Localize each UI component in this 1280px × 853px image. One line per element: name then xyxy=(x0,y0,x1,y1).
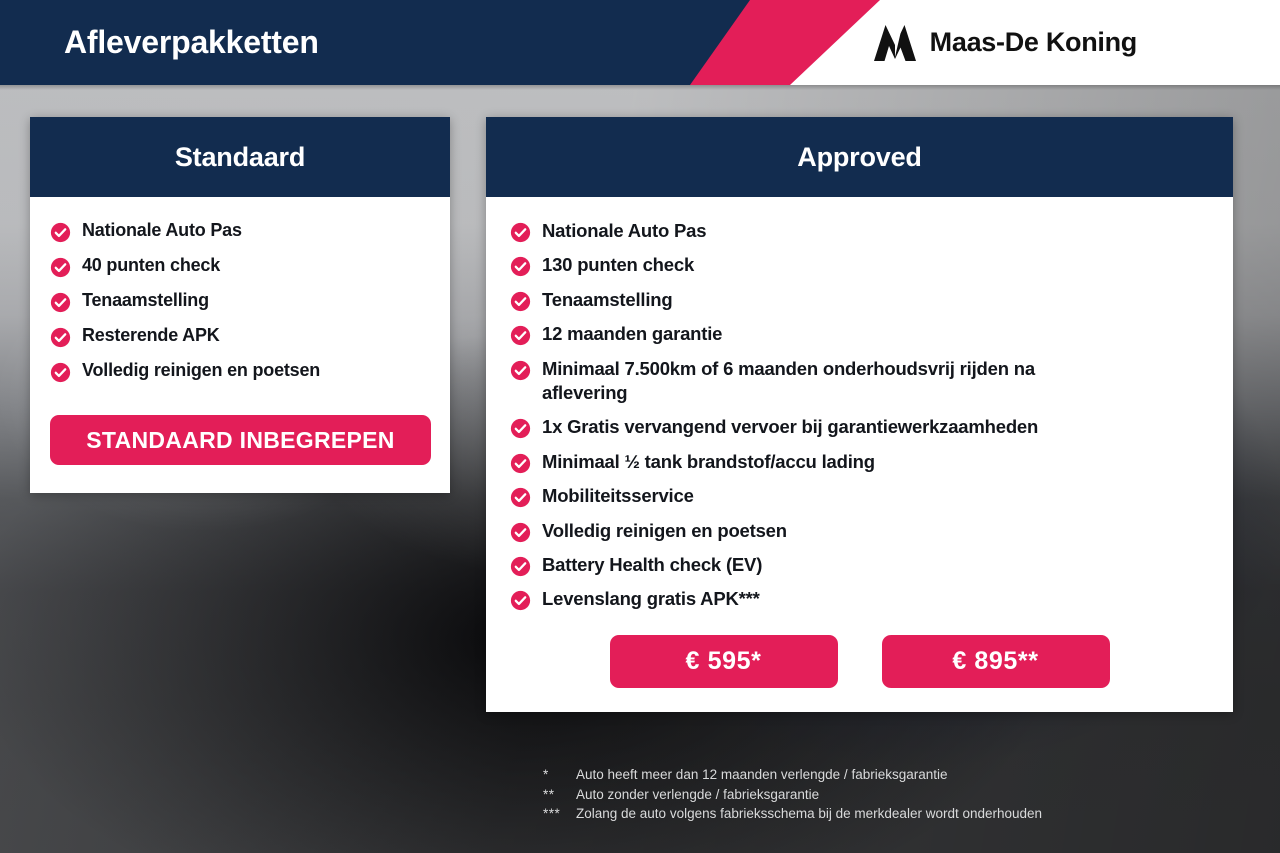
promo-page: Afleverpakketten Maas-De Koning Standaar… xyxy=(0,0,1280,853)
check-circle-icon xyxy=(50,362,71,383)
list-item: Nationale Auto Pas xyxy=(30,219,450,243)
list-item: 40 punten check xyxy=(30,254,450,278)
feature-label: Resterende APK xyxy=(82,324,220,348)
feature-list-standaard: Nationale Auto Pas 40 punten check Tenaa… xyxy=(30,219,450,383)
feature-label: Nationale Auto Pas xyxy=(82,219,242,243)
check-circle-icon xyxy=(510,360,531,381)
card-body-approved: Nationale Auto Pas 130 punten check Tena… xyxy=(486,197,1233,712)
feature-label: Mobiliteitsservice xyxy=(542,484,694,508)
price-button-595[interactable]: € 595* xyxy=(610,635,838,688)
price-button-row: € 595* € 895** xyxy=(486,622,1233,712)
list-item: Minimaal ½ tank brandstof/accu lading xyxy=(486,450,1233,474)
list-item: Resterende APK xyxy=(30,324,450,348)
list-item: Volledig reinigen en poetsen xyxy=(30,359,450,383)
card-header-approved: Approved xyxy=(486,117,1233,197)
check-circle-icon xyxy=(50,292,71,313)
feature-label: Battery Health check (EV) xyxy=(542,553,762,577)
footnote-text: Auto zonder verlengde / fabrieksgarantie xyxy=(576,785,819,805)
check-circle-icon xyxy=(510,487,531,508)
list-item: Tenaamstelling xyxy=(30,289,450,313)
check-circle-icon xyxy=(510,256,531,277)
check-circle-icon xyxy=(50,257,71,278)
check-circle-icon xyxy=(510,590,531,611)
check-circle-icon xyxy=(510,522,531,543)
feature-list-approved: Nationale Auto Pas 130 punten check Tena… xyxy=(486,219,1233,612)
feature-label: Minimaal 7.500km of 6 maanden onderhouds… xyxy=(542,357,1122,406)
check-circle-icon xyxy=(510,418,531,439)
feature-label: Levenslang gratis APK*** xyxy=(542,587,760,611)
feature-label: 40 punten check xyxy=(82,254,220,278)
footnote-double-asterisk: ** Auto zonder verlengde / fabrieksgaran… xyxy=(543,785,1042,805)
check-circle-icon xyxy=(510,222,531,243)
check-circle-icon xyxy=(510,291,531,312)
footnote-triple-asterisk: *** Zolang de auto volgens fabrieksschem… xyxy=(543,804,1042,824)
header-shadow xyxy=(0,85,1280,90)
check-circle-icon xyxy=(510,556,531,577)
footnote-single-asterisk: * Auto heeft meer dan 12 maanden verleng… xyxy=(543,765,1042,785)
package-card-standaard: Standaard Nationale Auto Pas 40 punten c xyxy=(30,117,450,493)
footnote-marker: ** xyxy=(543,785,576,805)
footnote-marker: *** xyxy=(543,804,576,824)
list-item: Minimaal 7.500km of 6 maanden onderhouds… xyxy=(486,357,1233,406)
check-circle-icon xyxy=(50,222,71,243)
list-item: 1x Gratis vervangend vervoer bij garanti… xyxy=(486,415,1233,439)
feature-label: Volledig reinigen en poetsen xyxy=(542,519,787,543)
standaard-included-button[interactable]: STANDAARD INBEGREPEN xyxy=(50,415,431,465)
maas-de-koning-m-mark-icon xyxy=(872,23,918,63)
card-title: Standaard xyxy=(175,142,305,173)
check-circle-icon xyxy=(50,327,71,348)
list-item: Tenaamstelling xyxy=(486,288,1233,312)
price-button-895[interactable]: € 895** xyxy=(882,635,1110,688)
feature-label: 12 maanden garantie xyxy=(542,322,722,346)
brand-logo: Maas-De Koning xyxy=(872,0,1137,85)
list-item: Nationale Auto Pas xyxy=(486,219,1233,243)
footnote-text: Zolang de auto volgens fabrieksschema bi… xyxy=(576,804,1042,824)
card-title: Approved xyxy=(797,142,921,173)
feature-label: Tenaamstelling xyxy=(82,289,209,313)
list-item: Battery Health check (EV) xyxy=(486,553,1233,577)
list-item: Levenslang gratis APK*** xyxy=(486,587,1233,611)
page-header: Afleverpakketten Maas-De Koning xyxy=(0,0,1280,85)
feature-label: Minimaal ½ tank brandstof/accu lading xyxy=(542,450,875,474)
list-item: 12 maanden garantie xyxy=(486,322,1233,346)
footnote-text: Auto heeft meer dan 12 maanden verlengde… xyxy=(576,765,948,785)
check-circle-icon xyxy=(510,453,531,474)
footnote-marker: * xyxy=(543,765,576,785)
page-title: Afleverpakketten xyxy=(64,20,319,64)
check-circle-icon xyxy=(510,325,531,346)
card-header-standaard: Standaard xyxy=(30,117,450,197)
feature-label: 130 punten check xyxy=(542,253,694,277)
feature-label: Volledig reinigen en poetsen xyxy=(82,359,320,383)
feature-label: Nationale Auto Pas xyxy=(542,219,706,243)
brand-name: Maas-De Koning xyxy=(930,27,1137,58)
feature-label: Tenaamstelling xyxy=(542,288,673,312)
footnotes: * Auto heeft meer dan 12 maanden verleng… xyxy=(543,765,1042,824)
list-item: 130 punten check xyxy=(486,253,1233,277)
card-body-standaard: Nationale Auto Pas 40 punten check Tenaa… xyxy=(30,197,450,493)
list-item: Mobiliteitsservice xyxy=(486,484,1233,508)
package-card-approved: Approved Nationale Auto Pas 130 punten c xyxy=(486,117,1233,712)
feature-label: 1x Gratis vervangend vervoer bij garanti… xyxy=(542,415,1038,439)
list-item: Volledig reinigen en poetsen xyxy=(486,519,1233,543)
